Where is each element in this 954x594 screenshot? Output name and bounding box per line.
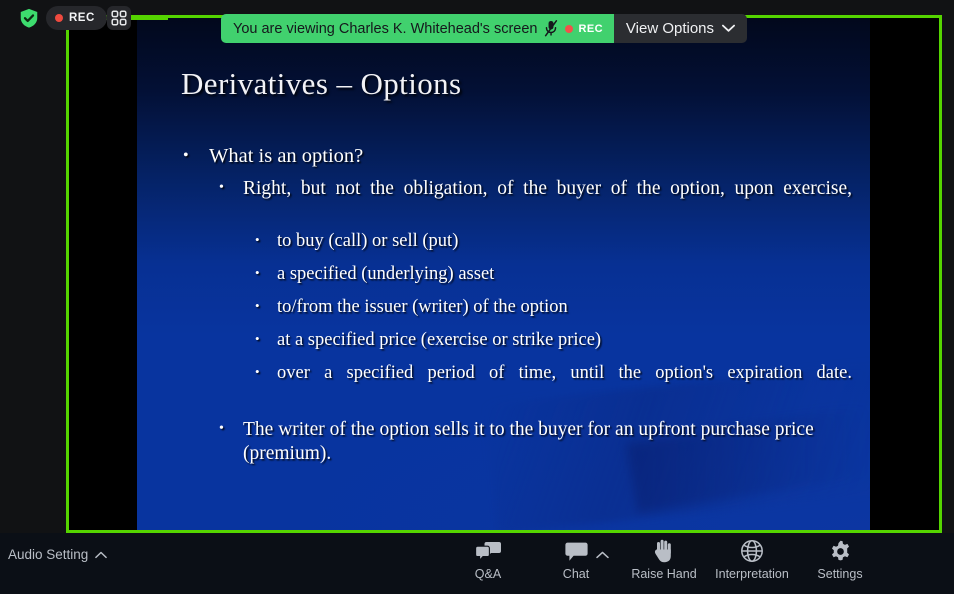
chevron-up-icon	[95, 547, 107, 562]
slide-body: • What is an option? • Right, but not th…	[171, 144, 852, 471]
chat-options-chevron-up-icon[interactable]	[596, 546, 609, 564]
globe-icon	[740, 539, 764, 563]
mic-muted-icon	[544, 20, 558, 37]
toolbar-item-label: Q&A	[475, 567, 501, 581]
bullet-text: a specified (underlying) asset	[277, 263, 852, 286]
toolbar-item-raise-hand[interactable]: Raise Hand	[620, 539, 708, 581]
bullet-text: The writer of the option sells it to the…	[243, 418, 852, 466]
viewing-notice: You are viewing Charles K. Whitehead's s…	[221, 14, 614, 43]
shared-slide: Derivatives – Options • What is an optio…	[137, 18, 870, 530]
bullet-marker: •	[255, 296, 277, 319]
toolbar-item-interpretation[interactable]: Interpretation	[708, 539, 796, 581]
chat-bubble-icon	[565, 539, 588, 563]
grid-four-squares-icon[interactable]	[107, 6, 131, 30]
border-connector-right	[130, 17, 168, 20]
toolbar-item-label: Settings	[817, 567, 862, 581]
bullet-text: to/from the issuer (writer) of the optio…	[277, 296, 852, 319]
toolbar-item-label: Raise Hand	[631, 567, 696, 581]
view-options-button[interactable]: View Options	[614, 14, 747, 43]
banner-recording-badge: REC	[565, 23, 602, 35]
banner-recording-label: REC	[578, 23, 602, 35]
recording-badge-label: REC	[69, 12, 95, 24]
bullet-text: to buy (call) or sell (put)	[277, 230, 852, 253]
toolbar-item-qa[interactable]: Q&A	[444, 539, 532, 581]
bullet-text: What is an option?	[209, 144, 852, 169]
meeting-toolbar: Audio Setting Q&A	[0, 533, 954, 594]
slide-bullet: • Right, but not the obligation, of the …	[219, 177, 852, 225]
screen-share-banner: You are viewing Charles K. Whitehead's s…	[221, 14, 747, 43]
chevron-down-icon	[722, 20, 735, 38]
record-dot-icon	[565, 25, 573, 33]
toolbar-item-label: Interpretation	[715, 567, 789, 581]
toolbar-item-label: Chat	[563, 567, 589, 581]
slide-title: Derivatives – Options	[181, 66, 461, 102]
bullet-marker: •	[255, 329, 277, 352]
audio-setting-button[interactable]: Audio Setting	[8, 547, 107, 562]
bullet-text: at a specified price (exercise or strike…	[277, 329, 852, 352]
chat-bubbles-icon	[475, 539, 502, 563]
slide-bullet: • to buy (call) or sell (put)	[255, 230, 852, 253]
bullet-marker: •	[255, 362, 277, 408]
raised-hand-icon	[653, 539, 675, 563]
toolbar-item-settings[interactable]: Settings	[796, 539, 884, 581]
audio-setting-label: Audio Setting	[8, 547, 88, 562]
toolbar-item-chat[interactable]: Chat	[532, 539, 620, 581]
gear-icon	[829, 539, 852, 563]
bullet-marker: •	[255, 263, 277, 286]
slide-bullet: • What is an option?	[183, 144, 852, 169]
slide-bullet: • The writer of the option sells it to t…	[219, 418, 852, 466]
toolbar-items: Q&A Chat	[444, 539, 884, 581]
slide-bullet: • over a specified period of time, until…	[255, 362, 852, 408]
bullet-text: Right, but not the obligation, of the bu…	[243, 177, 852, 225]
slide-bullet: • a specified (underlying) asset	[255, 263, 852, 286]
bullet-marker: •	[219, 418, 243, 466]
zoom-screenshare-window: Derivatives – Options • What is an optio…	[0, 0, 954, 594]
recording-badge[interactable]: REC	[46, 6, 107, 30]
slide-bullet: • to/from the issuer (writer) of the opt…	[255, 296, 852, 319]
shield-check-icon[interactable]	[18, 7, 40, 29]
bullet-text: over a specified period of time, until t…	[277, 362, 852, 408]
bullet-marker: •	[255, 230, 277, 253]
bullet-marker: •	[219, 177, 243, 225]
viewing-notice-label: You are viewing Charles K. Whitehead's s…	[233, 21, 537, 37]
view-options-label: View Options	[626, 20, 714, 37]
bullet-marker: •	[183, 144, 209, 169]
slide-bullet: • at a specified price (exercise or stri…	[255, 329, 852, 352]
record-dot-icon	[55, 14, 63, 22]
